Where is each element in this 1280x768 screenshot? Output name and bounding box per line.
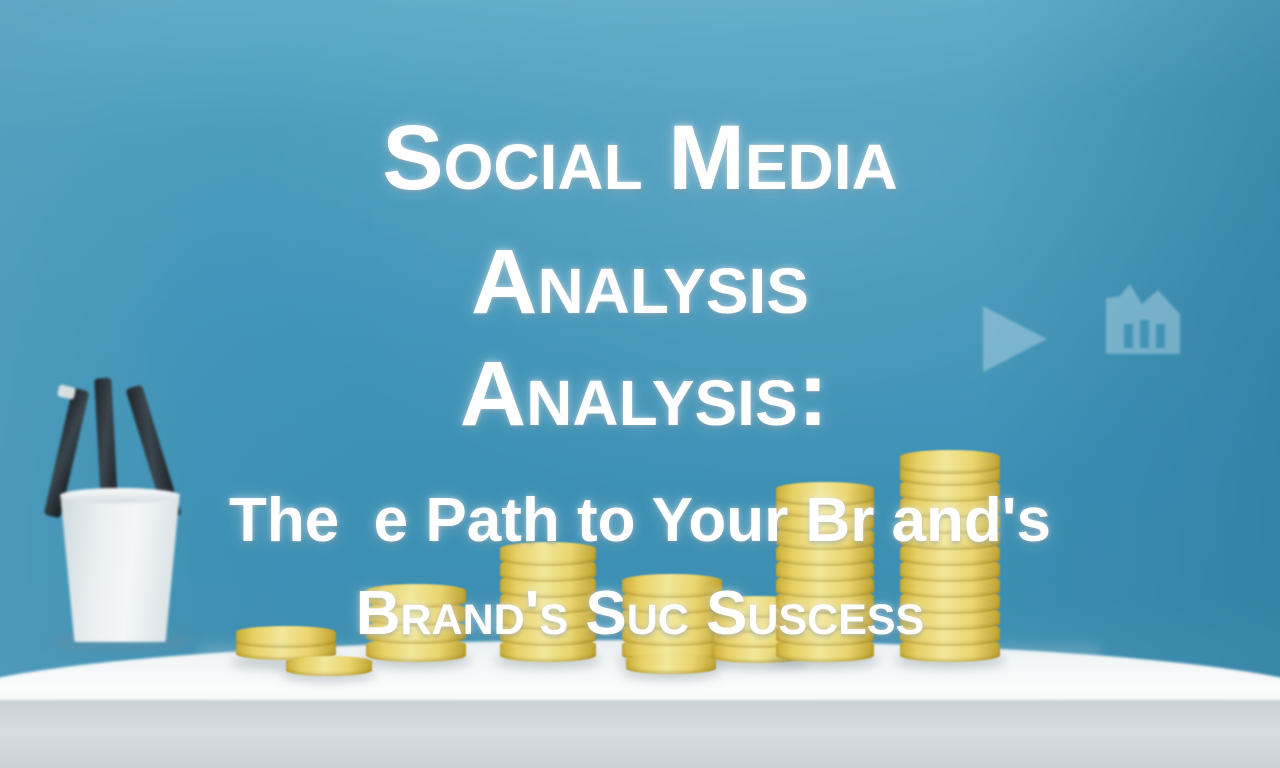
- coin-top: [622, 560, 722, 586]
- coin-loose-2: [626, 646, 716, 680]
- play-icon: [975, 300, 1055, 383]
- pen-cup: [40, 380, 260, 680]
- table-front-face: [0, 700, 1280, 768]
- coin-top: [626, 646, 716, 666]
- cup-rim: [60, 488, 180, 503]
- coin-loose-1: [286, 648, 372, 682]
- coin-stack-5: [776, 470, 874, 670]
- coin-top: [236, 616, 336, 638]
- coin-top: [900, 438, 1000, 462]
- coin-stack-3: [500, 530, 596, 670]
- coin-top: [286, 648, 372, 668]
- coin-stack-6: [900, 442, 1000, 670]
- coin-top: [776, 470, 874, 494]
- coin-stack-2: [366, 562, 466, 668]
- title-card-image: Social Media Analysis Analysis: The e Pa…: [0, 0, 1280, 768]
- cup-body: [60, 492, 180, 642]
- coin-top: [500, 530, 596, 554]
- pen-1-tip: [57, 384, 76, 400]
- chart-icon: [1100, 268, 1186, 365]
- coin-top: [366, 570, 466, 596]
